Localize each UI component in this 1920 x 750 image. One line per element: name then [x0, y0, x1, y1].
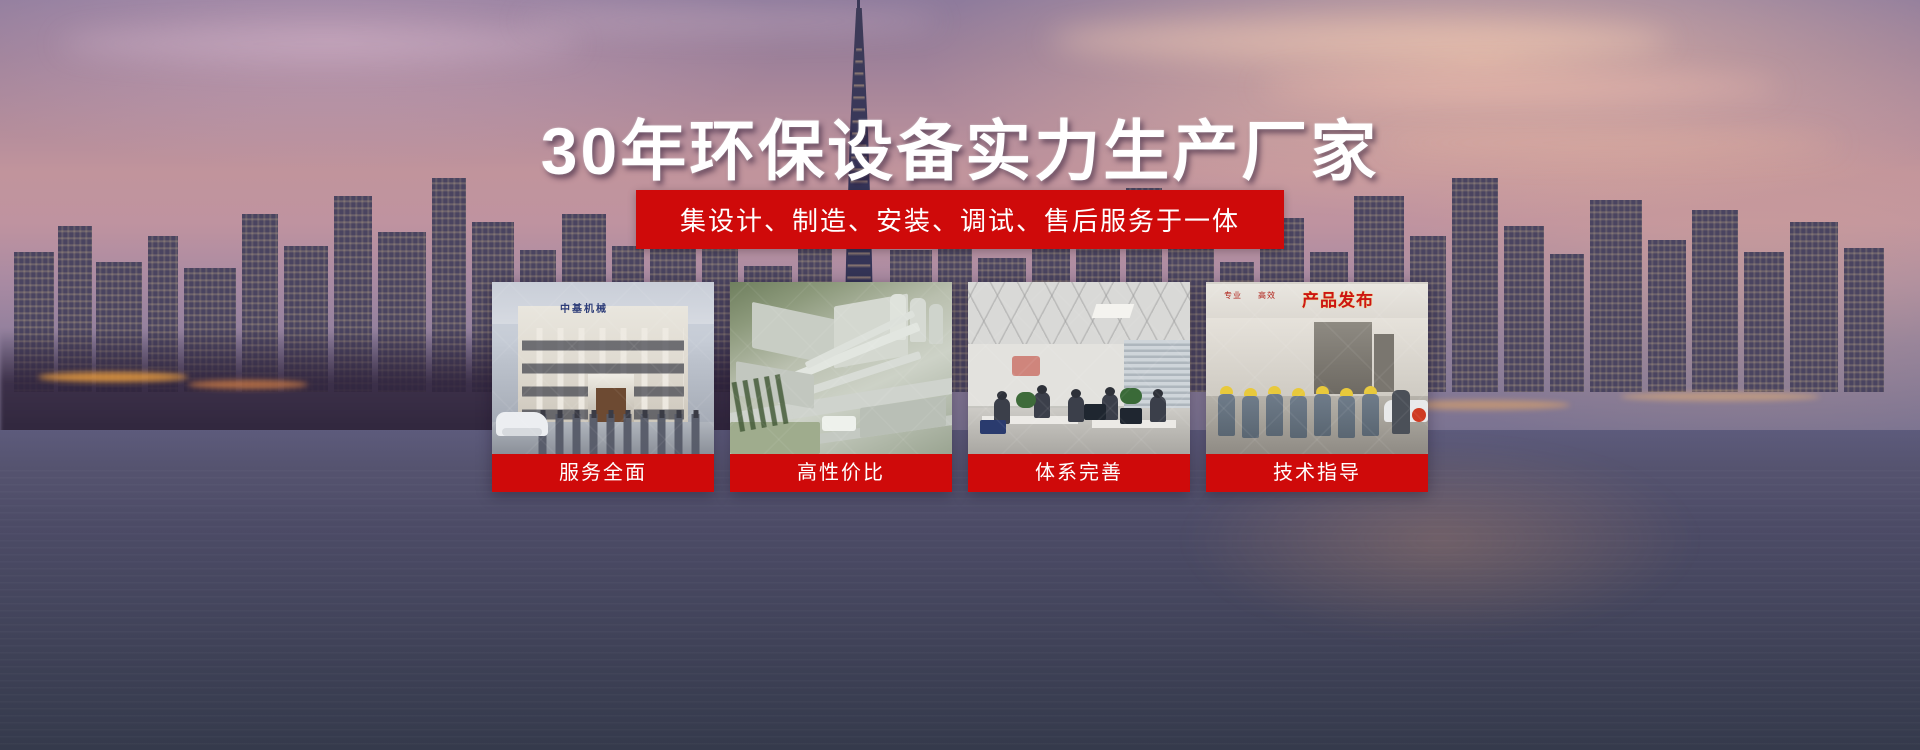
night-lamp: [1620, 392, 1820, 401]
photo-silo: [929, 304, 943, 344]
photo-banner-headline: 产品发布: [1302, 286, 1374, 311]
photo-plant-pot: [1016, 392, 1036, 408]
photo-worker: [1266, 394, 1283, 436]
banner-subtitle-bar: 集设计、制造、安装、调试、售后服务于一体: [636, 190, 1284, 249]
photo-office-worker: [1150, 396, 1166, 422]
feature-card[interactable]: 专业 高效 产品发布: [1206, 282, 1428, 492]
photo-staff-heads: [534, 410, 704, 418]
card-photo-workshop: 专业 高效 产品发布: [1206, 282, 1428, 454]
hero-banner: 30年环保设备实力生产厂家 集设计、制造、安装、调试、售后服务于一体 中基机械: [0, 0, 1920, 750]
cloud-band: [520, 8, 940, 34]
photo-office-worker: [1034, 392, 1050, 418]
photo-monitor: [1084, 404, 1106, 420]
skyline-building: [1692, 210, 1738, 392]
photo-worker: [1290, 396, 1307, 438]
skyline-building: [1790, 222, 1838, 392]
photo-ceiling: [968, 282, 1190, 344]
photo-laptop: [980, 420, 1006, 434]
photo-company-sign-text: 中基机械: [560, 300, 608, 315]
photo-worker-helmet: [1364, 386, 1377, 394]
photo-red-object: [1412, 408, 1426, 422]
card-label: 技术指导: [1206, 454, 1428, 492]
photo-workshop-door: [1314, 322, 1372, 394]
photo-silo: [910, 298, 926, 342]
photo-monitor: [1120, 408, 1142, 424]
card-photo-plant: [730, 282, 952, 454]
photo-plant-pot: [1120, 388, 1142, 404]
skyline-building: [1590, 200, 1642, 392]
photo-truck: [822, 416, 856, 431]
skyline-building: [1452, 178, 1498, 392]
photo-company-sign: 中基机械: [560, 300, 646, 314]
photo-worker: [1242, 396, 1259, 438]
skyline-building: [1844, 248, 1884, 392]
card-label: 高性价比: [730, 454, 952, 492]
night-lamp: [38, 372, 188, 382]
photo-parked-car: [496, 412, 548, 436]
cloud-band: [60, 26, 580, 62]
photo-worker-helmet: [1268, 386, 1281, 394]
photo-ceiling-light: [1092, 304, 1135, 318]
feature-card[interactable]: 体系完善: [968, 282, 1190, 492]
skyline-building: [1648, 240, 1686, 392]
photo-workshop-door: [1374, 334, 1394, 392]
night-lamp: [188, 380, 308, 389]
photo-worker: [1362, 394, 1379, 436]
cloud-band: [1050, 18, 1670, 62]
photo-worker-helmet: [1220, 386, 1233, 394]
skyline-building: [1550, 254, 1584, 392]
feature-card[interactable]: 中基机械 服务全面: [492, 282, 714, 492]
photo-staff-row: [534, 414, 704, 454]
skyline-building: [1744, 252, 1784, 392]
photo-office-worker: [1068, 396, 1084, 422]
photo-worker: [1218, 394, 1235, 436]
skyline-building: [1504, 226, 1544, 392]
photo-supervisor: [1392, 390, 1410, 434]
photo-banner-text-mid: 高效: [1258, 290, 1276, 301]
card-photo-office: [968, 282, 1190, 454]
feature-card[interactable]: 高性价比: [730, 282, 952, 492]
photo-worker: [1338, 396, 1355, 438]
photo-worker-helmet: [1244, 388, 1257, 396]
banner-headline: 30年环保设备实力生产厂家: [0, 98, 1920, 194]
photo-wall-logo: [1012, 356, 1040, 376]
feature-card-list: 中基机械 服务全面: [492, 282, 1428, 492]
photo-worker-helmet: [1316, 386, 1329, 394]
card-label: 体系完善: [968, 454, 1190, 492]
card-label: 服务全面: [492, 454, 714, 492]
photo-tree-row: [730, 373, 794, 433]
photo-banner-text-left: 专业: [1224, 290, 1242, 301]
card-photo-headquarters: 中基机械: [492, 282, 714, 454]
photo-worker: [1314, 394, 1331, 436]
photo-worker-helmet: [1292, 388, 1305, 396]
photo-worker-helmet: [1340, 388, 1353, 396]
